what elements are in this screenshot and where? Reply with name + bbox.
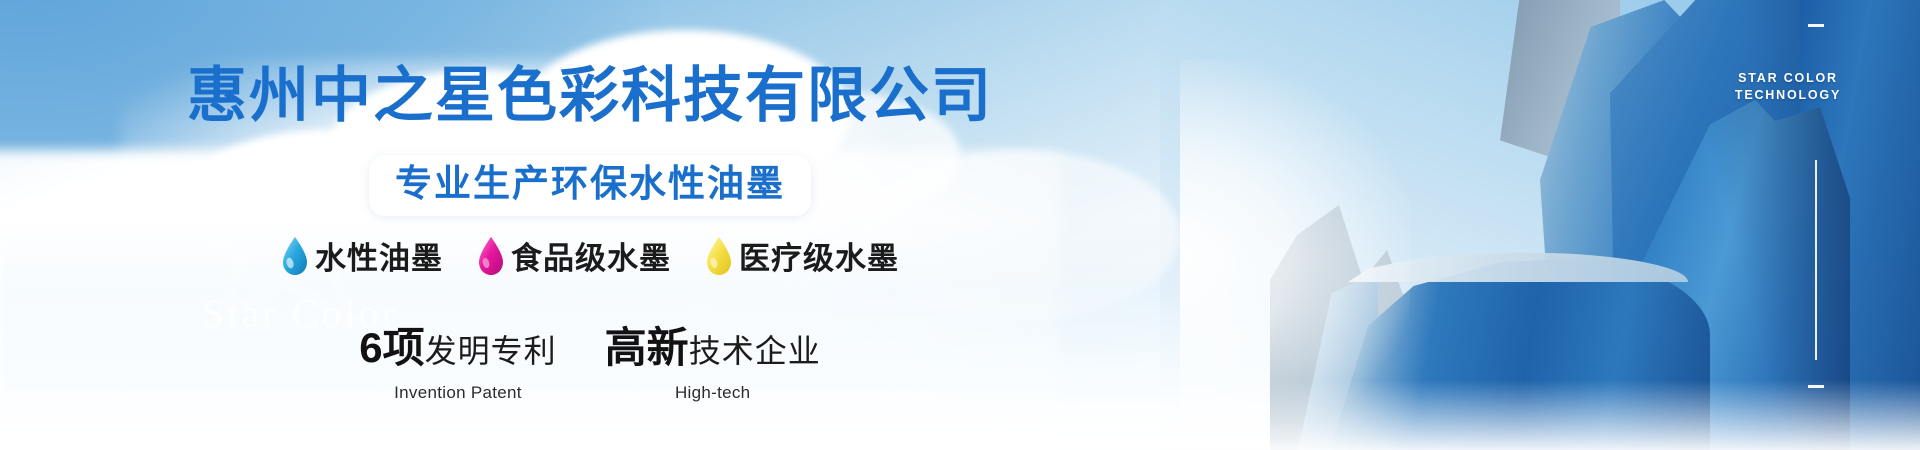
badge-rest-text: 技术企业 — [689, 333, 821, 369]
badge-invention-patent: 6项发明专利 Invention Patent — [359, 325, 556, 403]
badge-english-text: High-tech — [605, 383, 821, 403]
subtitle-text: 专业生产环保水性油墨 — [395, 162, 785, 206]
badge-chinese-line: 6项发明专利 — [359, 325, 556, 381]
badge-high-tech: 高新技术企业 High-tech — [605, 325, 821, 403]
building-mark-line-1: STAR COLOR — [1688, 70, 1888, 87]
building-mark-dash-top — [1808, 24, 1824, 27]
feature-label: 水性油墨 — [315, 233, 443, 278]
water-drop-icon — [281, 236, 309, 276]
badge-rest-text: 发明专利 — [425, 333, 557, 369]
feature-label: 医疗级水墨 — [739, 233, 899, 278]
building-brand-mark: STAR COLOR TECHNOLOGY — [1688, 70, 1888, 104]
subtitle-pill: 专业生产环保水性油墨 — [369, 155, 811, 216]
banner-content: 惠州中之星色彩科技有限公司 专业生产环保水性油墨 水性油 — [0, 0, 1180, 450]
water-drop-icon — [477, 236, 505, 276]
feature-label: 食品级水墨 — [511, 233, 671, 278]
feature-list: 水性油墨 食品级水墨 — [0, 233, 1180, 278]
badge-chinese-line: 高新技术企业 — [605, 325, 821, 381]
water-drop-icon — [705, 236, 733, 276]
badge-list: 6项发明专利 Invention Patent 高新技术企业 High-tech — [0, 325, 1180, 403]
feature-item-food-grade-ink: 食品级水墨 — [477, 233, 671, 278]
badge-strong-text: 6项 — [359, 324, 424, 371]
badge-strong-text: 高新 — [605, 324, 689, 371]
feature-item-medical-grade-ink: 医疗级水墨 — [705, 233, 899, 278]
company-hero-banner: Star Color STAR COLOR TECHNOLOGY 惠州中之星色彩… — [0, 0, 1920, 450]
building-mark-vertical-line — [1815, 160, 1817, 360]
feature-item-water-ink: 水性油墨 — [281, 233, 443, 278]
company-title: 惠州中之星色彩科技有限公司 — [0, 62, 1180, 130]
badge-english-text: Invention Patent — [359, 383, 556, 403]
building-mark-line-2: TECHNOLOGY — [1688, 87, 1888, 104]
